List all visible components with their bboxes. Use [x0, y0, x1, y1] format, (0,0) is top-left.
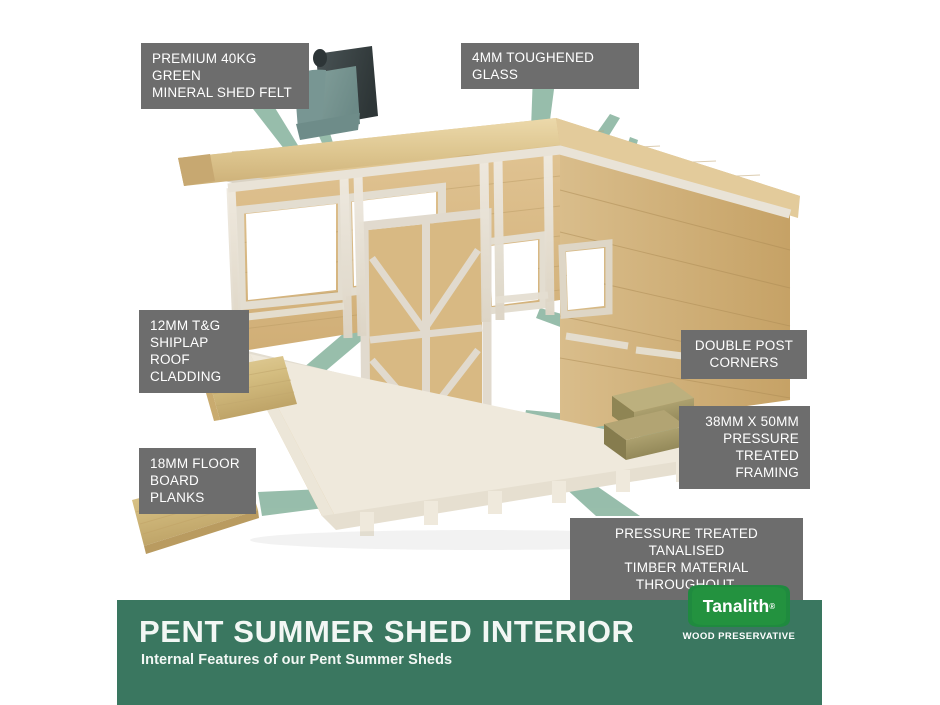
callout-line: 38mm X 50mm — [690, 413, 799, 430]
page-subtitle: Internal Features of our Pent Summer She… — [141, 652, 452, 668]
roof-fascia-edge — [178, 154, 215, 186]
callout-line: PREMIUM 40KG GREEN — [152, 50, 298, 84]
callout-line: BOARD PLANKS — [150, 472, 245, 506]
callout-line: 4mm TOUGHENED GLASS — [472, 49, 628, 83]
callout-pressure-treated-framing[interactable]: 38mm X 50mm PRESSURE TREATED FRAMING — [679, 406, 810, 489]
callout-floor-boards[interactable]: 18mm FLOOR BOARD PLANKS — [139, 448, 256, 514]
callout-shed-felt[interactable]: PREMIUM 40KG GREEN MINERAL SHED FELT — [141, 43, 309, 109]
window-group-left — [240, 199, 342, 306]
window-group-far-right — [562, 243, 609, 315]
tanalith-logo: Tanalith® WOOD PRESERVATIVE — [676, 583, 802, 653]
callout-line: 18mm FLOOR — [150, 455, 245, 472]
callout-line: CORNERS — [692, 354, 796, 371]
callout-double-post-corners[interactable]: DOUBLE POST CORNERS — [681, 330, 807, 379]
window-glass-far-right — [566, 248, 604, 310]
callout-line: PRESSURE TREATED TANALISED — [581, 525, 792, 559]
callout-line: SHIPLAP ROOF — [150, 334, 238, 368]
callout-toughened-glass[interactable]: 4mm TOUGHENED GLASS — [461, 43, 639, 89]
page-title: PENT SUMMER SHED INTERIOR — [139, 614, 635, 650]
callout-line: MINERAL SHED FELT — [152, 84, 298, 101]
tanalith-wordmark: Tanalith® — [676, 583, 802, 629]
tanalith-tagline: WOOD PRESERVATIVE — [676, 631, 802, 642]
tanalith-brand-text: Tanalith — [703, 596, 770, 617]
callout-line: TREATED FRAMING — [690, 447, 799, 481]
window-glass-left — [246, 204, 336, 300]
infographic-stage: PREMIUM 40KG GREEN MINERAL SHED FELT 4mm… — [0, 0, 940, 705]
callout-line: CLADDING — [150, 368, 238, 385]
callout-shiplap-cladding[interactable]: 12mm T&G SHIPLAP ROOF CLADDING — [139, 310, 249, 393]
callout-line: 12mm T&G — [150, 317, 238, 334]
registered-mark-icon: ® — [769, 602, 775, 611]
callout-line: PRESSURE — [690, 430, 799, 447]
callout-line: DOUBLE POST — [692, 337, 796, 354]
